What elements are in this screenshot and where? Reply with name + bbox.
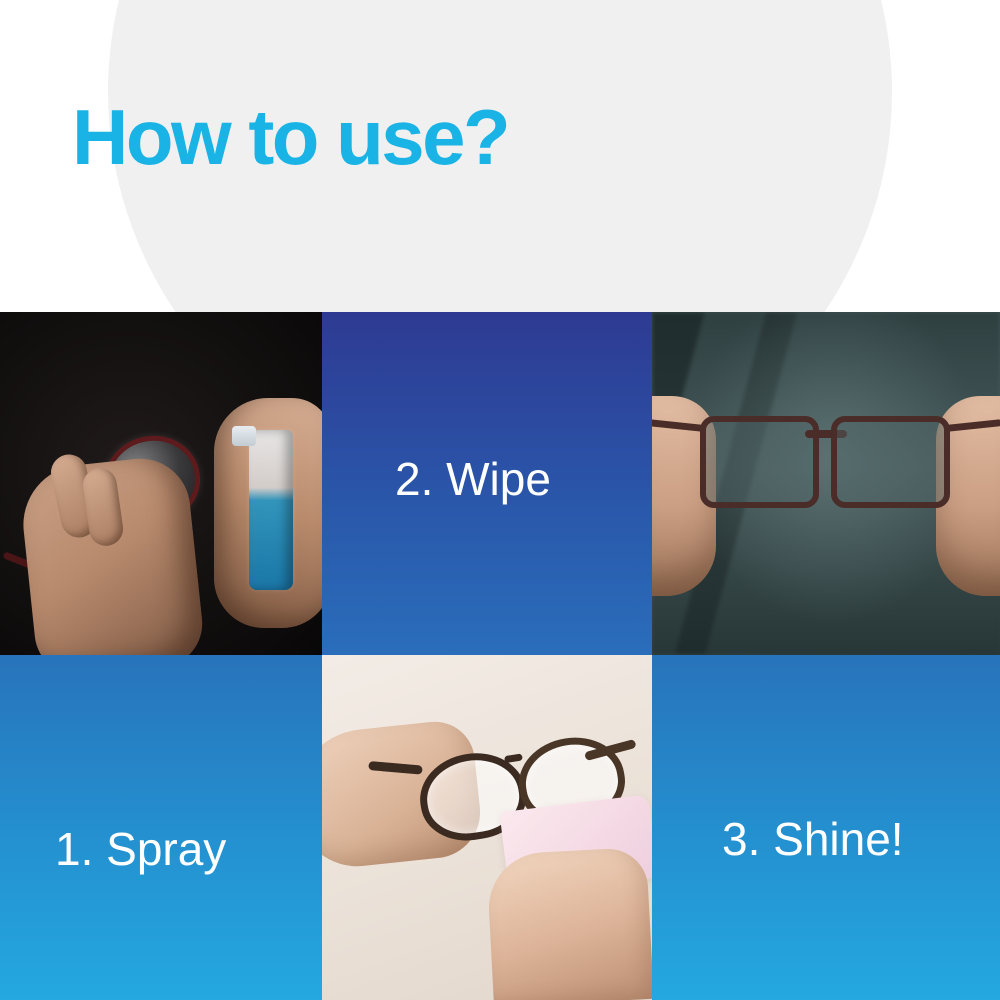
step-panel-wipe: 2. Wipe: [322, 312, 652, 655]
hold-glasses-photo: [652, 312, 1000, 655]
how-to-use-poster: How to use? 2. Wipe: [0, 0, 1000, 1000]
steps-grid: 2. Wipe 1. Spray: [0, 312, 1000, 1000]
photo-tile-cloth-wipe: [322, 655, 652, 1000]
eyeglass-lens-left: [700, 416, 819, 508]
lower-hand: [486, 847, 652, 1000]
spray-nozzle: [232, 426, 256, 446]
eyeglass-temple-left: [368, 761, 423, 775]
eyeglass-bridge: [504, 753, 523, 763]
spray-bottle: [249, 430, 293, 590]
step-label-shine: 3. Shine!: [722, 812, 904, 866]
step-panel-shine: 3. Shine!: [652, 655, 1000, 1000]
header-section: How to use?: [0, 0, 1000, 312]
photo-tile-spray: [0, 312, 322, 655]
step-label-spray: 1. Spray: [55, 822, 226, 876]
photo-tile-hold-glasses: [652, 312, 1000, 655]
page-title: How to use?: [72, 95, 508, 179]
step-label-wipe: 2. Wipe: [395, 452, 551, 506]
eyeglass-lens-right: [831, 416, 950, 508]
eyeglasses-frame: [700, 416, 950, 502]
cloth-wipe-photo: [322, 655, 652, 1000]
spray-photo: [0, 312, 322, 655]
step-panel-spray: 1. Spray: [0, 655, 322, 1000]
